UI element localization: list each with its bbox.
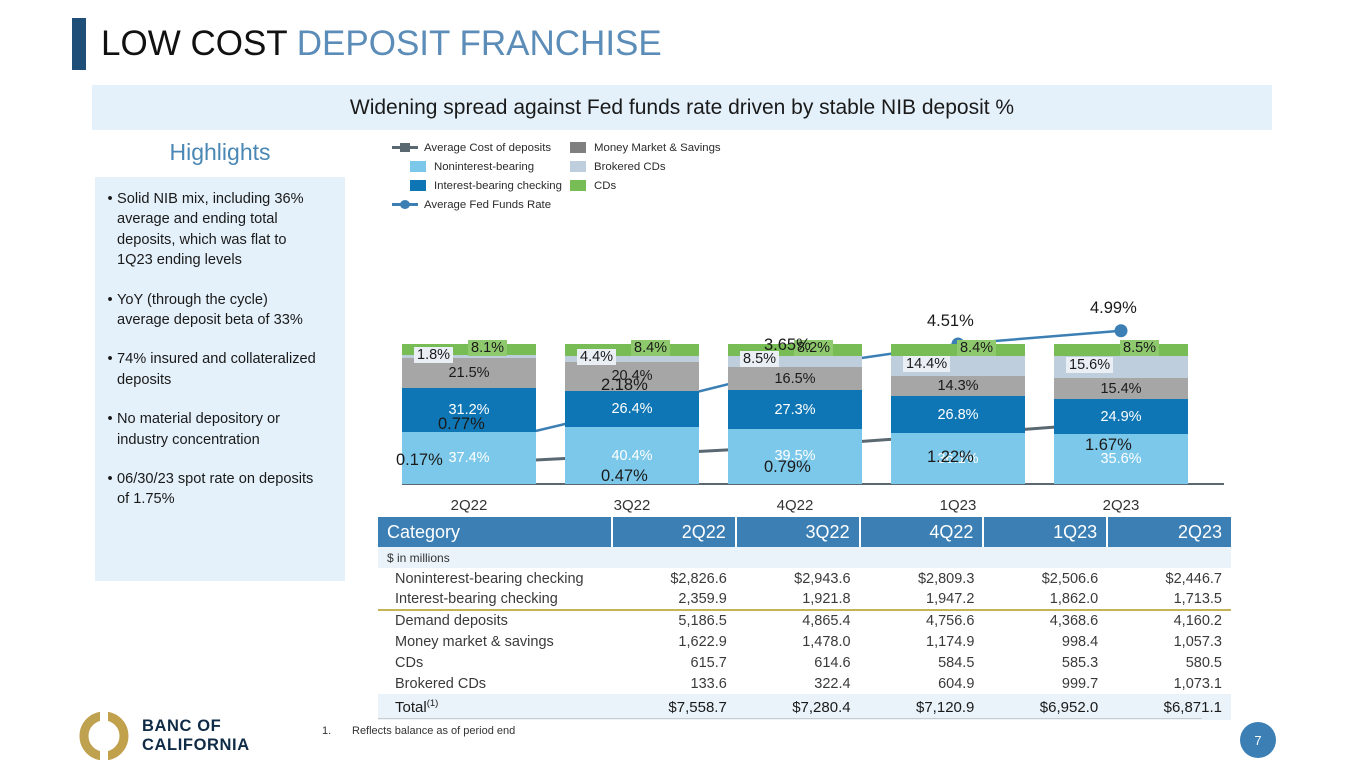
deposit-balances-table: Category 2Q22 3Q22 4Q22 1Q23 2Q23 $ in m… — [378, 517, 1231, 720]
logo-text: BANC OF CALIFORNIA — [142, 717, 250, 755]
total-value: $6,871.1 — [1107, 694, 1231, 720]
highlight-item-2: • YoY (through the cycle) average deposi… — [95, 290, 335, 331]
x-tick-4q22: 4Q22 — [728, 497, 862, 514]
total-value: $7,280.4 — [736, 694, 860, 720]
point-label-average-fed-funds-rate-3q22: 2.18% — [601, 376, 648, 395]
row-value: 1,862.0 — [983, 589, 1107, 610]
row-value: 615.7 — [612, 652, 736, 673]
highlight-text: 74% insured and collateralized deposits — [117, 349, 335, 390]
point-label-average-fed-funds-rate-1q23: 4.51% — [927, 312, 974, 331]
bar-segment-interest-bearing-checking: 24.9% — [1054, 399, 1188, 434]
highlight-text: 06/30/23 spot rate on deposits of 1.75% — [117, 469, 335, 510]
page-title-part1: LOW COST — [101, 24, 297, 63]
row-value: 133.6 — [612, 673, 736, 694]
bar-segment-label: 16.5% — [774, 371, 815, 387]
column-header-2q22: 2Q22 — [612, 517, 736, 547]
bar-segment-interest-bearing-checking: 26.4% — [565, 391, 699, 428]
table-head: Category 2Q22 3Q22 4Q22 1Q23 2Q23 — [378, 517, 1231, 547]
bar-segment-money-market-savings: 15.4% — [1054, 378, 1188, 400]
row-value: 4,756.6 — [860, 610, 984, 631]
total-value: $7,120.9 — [860, 694, 984, 720]
bar-segment-interest-bearing-checking: 27.3% — [728, 390, 862, 428]
page-number-badge: 7 — [1240, 722, 1276, 758]
x-tick-2q22: 2Q22 — [402, 497, 536, 514]
deposit-mix-chart: Average Cost of deposits Money Market & … — [378, 138, 1238, 516]
row-label: Demand deposits — [378, 610, 612, 631]
highlight-text: Solid NIB mix, including 36% average and… — [117, 189, 335, 271]
row-value: $2,446.7 — [1107, 568, 1231, 589]
row-value: 1,073.1 — [1107, 673, 1231, 694]
total-label: Total(1) — [378, 694, 612, 720]
subtitle-banner: Widening spread against Fed funds rate d… — [92, 85, 1272, 130]
row-value: 585.3 — [983, 652, 1107, 673]
stacked-bar-3q22: 20.4%26.4%40.4% — [565, 344, 699, 484]
row-value: 580.5 — [1107, 652, 1231, 673]
x-tick-2q23: 2Q23 — [1054, 497, 1188, 514]
x-tick-1q23: 1Q23 — [891, 497, 1025, 514]
bar-label-brokered-cds: 14.4% — [903, 356, 950, 372]
row-value: 584.5 — [860, 652, 984, 673]
units-spacer — [860, 547, 984, 568]
row-value: 999.7 — [983, 673, 1107, 694]
point-label-average-cost-of-deposits-3q22: 0.47% — [601, 467, 648, 486]
row-label: Brokered CDs — [378, 673, 612, 694]
units-spacer — [1107, 547, 1231, 568]
units-spacer — [612, 547, 736, 568]
column-header-category: Category — [378, 517, 612, 547]
point-label-average-cost-of-deposits-1q23: 1.22% — [927, 448, 974, 467]
bar-label-cds: 8.1% — [468, 340, 507, 356]
bullet-glyph: • — [95, 349, 117, 390]
total-value: $6,952.0 — [983, 694, 1107, 720]
table-row: Demand deposits5,186.54,865.44,756.64,36… — [378, 610, 1231, 631]
footnote-text: Reflects balance as of period end — [352, 725, 515, 737]
highlight-item-5: • 06/30/23 spot rate on deposits of 1.75… — [95, 469, 335, 510]
row-value: 1,713.5 — [1107, 589, 1231, 610]
table-row: Brokered CDs133.6322.4604.9999.71,073.1 — [378, 673, 1231, 694]
highlights-box: • Solid NIB mix, including 36% average a… — [95, 177, 345, 581]
highlight-text: YoY (through the cycle) average deposit … — [117, 290, 335, 331]
row-label: Interest-bearing checking — [378, 589, 612, 610]
row-value: 604.9 — [860, 673, 984, 694]
point-label-average-cost-of-deposits-2q22: 0.17% — [396, 451, 443, 470]
total-value: $7,558.7 — [612, 694, 736, 720]
bar-segment-label: 26.8% — [937, 407, 978, 423]
column-header-1q23: 1Q23 — [983, 517, 1107, 547]
logo-line-2: CALIFORNIA — [142, 736, 250, 755]
subtitle-text: Widening spread against Fed funds rate d… — [350, 96, 1014, 120]
bar-label-cds: 8.5% — [1120, 340, 1159, 356]
point-label-average-cost-of-deposits-2q23: 1.67% — [1085, 436, 1132, 455]
table-header-row: Category 2Q22 3Q22 4Q22 1Q23 2Q23 — [378, 517, 1231, 547]
footnote-number: 1. — [322, 725, 352, 737]
table-body: $ in millionsNoninterest-bearing checkin… — [378, 547, 1231, 720]
title-accent-bar — [72, 18, 86, 70]
bar-segment-label: 26.4% — [611, 401, 652, 417]
table-units-row: $ in millions — [378, 547, 1231, 568]
x-tick-3q22: 3Q22 — [565, 497, 699, 514]
table-total-row: Total(1)$7,558.7$7,280.4$7,120.9$6,952.0… — [378, 694, 1231, 720]
table-row: Noninterest-bearing checking$2,826.6$2,9… — [378, 568, 1231, 589]
data-point-marker — [1115, 324, 1128, 337]
bullet-glyph: • — [95, 469, 117, 510]
bar-segment-label: 21.5% — [448, 365, 489, 381]
highlights-title: Highlights — [95, 139, 345, 166]
total-superscript: (1) — [427, 698, 439, 709]
row-value: 5,186.5 — [612, 610, 736, 631]
row-value: 1,921.8 — [736, 589, 860, 610]
bar-segment-money-market-savings: 14.3% — [891, 376, 1025, 396]
bar-label-cds: 8.4% — [957, 340, 996, 356]
chart-plot-area: 21.5%31.2%37.4%8.1%1.8%20.4%26.4%40.4%8.… — [378, 138, 1238, 516]
bullet-glyph: • — [95, 290, 117, 331]
bar-segment-label: 37.4% — [448, 450, 489, 466]
broken-ring-logo-icon — [78, 712, 130, 760]
page-title: LOW COST DEPOSIT FRANCHISE — [101, 22, 662, 66]
highlight-item-3: • 74% insured and collateralized deposit… — [95, 349, 335, 390]
bullet-glyph: • — [95, 409, 117, 450]
row-value: 614.6 — [736, 652, 860, 673]
bar-segment-label: 14.3% — [937, 378, 978, 394]
bar-segment-label: 24.9% — [1100, 409, 1141, 425]
point-label-average-fed-funds-rate-4q22: 3.65% — [764, 336, 811, 355]
point-label-average-fed-funds-rate-2q23: 4.99% — [1090, 299, 1137, 318]
highlight-item-1: • Solid NIB mix, including 36% average a… — [95, 189, 335, 271]
row-value: $2,826.6 — [612, 568, 736, 589]
point-label-average-fed-funds-rate-2q22: 0.77% — [438, 415, 485, 434]
row-value: 2,359.9 — [612, 589, 736, 610]
row-label: Money market & savings — [378, 631, 612, 652]
row-value: 322.4 — [736, 673, 860, 694]
row-value: 4,865.4 — [736, 610, 860, 631]
units-note: $ in millions — [378, 547, 612, 568]
banc-of-california-logo: BANC OF CALIFORNIA — [78, 712, 250, 760]
row-label: Noninterest-bearing checking — [378, 568, 612, 589]
bar-segment-label: 15.4% — [1100, 381, 1141, 397]
row-value: 4,368.6 — [983, 610, 1107, 631]
table-bottom-rule — [378, 718, 1202, 719]
row-value: 1,057.3 — [1107, 631, 1231, 652]
row-value: 1,478.0 — [736, 631, 860, 652]
column-header-2q23: 2Q23 — [1107, 517, 1231, 547]
point-label-average-cost-of-deposits-4q22: 0.79% — [764, 458, 811, 477]
row-label: CDs — [378, 652, 612, 673]
bar-label-brokered-cds: 15.6% — [1066, 357, 1113, 373]
bar-label-brokered-cds: 4.4% — [577, 349, 616, 365]
row-value: 1,174.9 — [860, 631, 984, 652]
row-value: $2,943.6 — [736, 568, 860, 589]
table-row: CDs615.7614.6584.5585.3580.5 — [378, 652, 1231, 673]
units-spacer — [983, 547, 1107, 568]
bar-segment-interest-bearing-checking: 26.8% — [891, 396, 1025, 434]
footnote: 1. Reflects balance as of period end — [322, 725, 515, 737]
row-value: $2,809.3 — [860, 568, 984, 589]
units-spacer — [736, 547, 860, 568]
row-value: 998.4 — [983, 631, 1107, 652]
row-value: 4,160.2 — [1107, 610, 1231, 631]
highlight-text: No material depository or industry conce… — [117, 409, 335, 450]
bar-segment-label: 40.4% — [611, 448, 652, 464]
table-row: Money market & savings1,622.91,478.01,17… — [378, 631, 1231, 652]
row-value: $2,506.6 — [983, 568, 1107, 589]
table: Category 2Q22 3Q22 4Q22 1Q23 2Q23 $ in m… — [378, 517, 1231, 720]
slide-header: LOW COST DEPOSIT FRANCHISE — [0, 0, 1365, 82]
row-value: 1,947.2 — [860, 589, 984, 610]
logo-line-1: BANC OF — [142, 717, 250, 736]
bar-segment-money-market-savings: 16.5% — [728, 367, 862, 390]
bar-label-cds: 8.4% — [631, 340, 670, 356]
bar-label-brokered-cds: 1.8% — [414, 347, 453, 363]
page-title-part2: DEPOSIT FRANCHISE — [297, 24, 662, 63]
column-header-3q22: 3Q22 — [736, 517, 860, 547]
column-header-4q22: 4Q22 — [860, 517, 984, 547]
bullet-glyph: • — [95, 189, 117, 271]
row-value: 1,622.9 — [612, 631, 736, 652]
table-row: Interest-bearing checking2,359.91,921.81… — [378, 589, 1231, 610]
bar-segment-label: 27.3% — [774, 402, 815, 418]
highlight-item-4: • No material depository or industry con… — [95, 409, 335, 450]
